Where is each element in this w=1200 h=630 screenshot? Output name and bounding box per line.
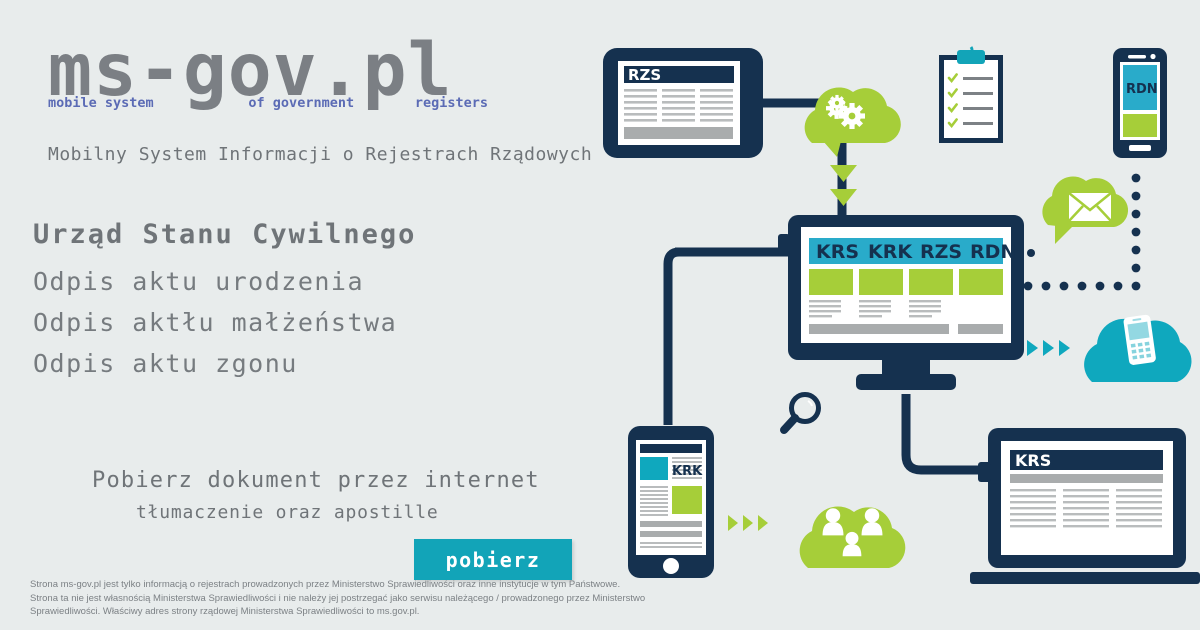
gears-cloud-icon bbox=[805, 87, 901, 206]
svg-text:KRK: KRK bbox=[672, 464, 703, 479]
svg-text:RZS: RZS bbox=[920, 241, 962, 263]
tablet-krk: KRK bbox=[628, 426, 714, 578]
logo-sub-mid: of government bbox=[248, 95, 354, 111]
monitor-dashboard: KRS KRK RZS RDN bbox=[778, 215, 1035, 390]
svg-text:KRK: KRK bbox=[868, 241, 913, 263]
list-item: Odpis aktu zgonu bbox=[33, 343, 397, 384]
illustration-panel: RZS bbox=[580, 0, 1200, 630]
tagline: Mobilny System Informacji o Rejestrach R… bbox=[48, 144, 592, 165]
laptop-krs: KRS bbox=[970, 428, 1200, 584]
envelope-cloud-icon bbox=[1042, 176, 1128, 244]
logo-sub-right: registers bbox=[415, 95, 488, 111]
document-list: Odpis aktu urodzenia Odpis aktłu małżeńs… bbox=[33, 261, 397, 384]
svg-text:RDN: RDN bbox=[970, 241, 1016, 263]
svg-text:KRS: KRS bbox=[816, 241, 859, 263]
svg-text:KRS: KRS bbox=[1015, 451, 1051, 470]
list-item: Odpis aktu urodzenia bbox=[33, 261, 397, 302]
phone-rdn: RDN bbox=[1113, 48, 1167, 158]
poster-root: ms-gov.pl mobile system of government re… bbox=[0, 0, 1200, 630]
magnifier-icon bbox=[784, 395, 819, 431]
clipboard-checklist-icon bbox=[939, 47, 1003, 143]
svg-text:RDN: RDN bbox=[1126, 82, 1158, 97]
cta-subline: tłumaczenie oraz apostille bbox=[136, 502, 439, 523]
logo-subtitle: mobile system of government registers bbox=[48, 95, 488, 111]
arrows-bottom bbox=[728, 515, 768, 531]
tablet-rzs: RZS bbox=[603, 48, 763, 158]
download-button[interactable]: pobierz bbox=[414, 539, 572, 580]
people-cloud-icon bbox=[800, 506, 906, 568]
page-title: Urząd Stanu Cywilnego bbox=[33, 219, 416, 250]
mobile-cloud-icon bbox=[1084, 314, 1191, 382]
svg-text:RZS: RZS bbox=[628, 66, 661, 84]
left-text-panel: ms-gov.pl mobile system of government re… bbox=[0, 0, 600, 630]
cta-headline: Pobierz dokument przez internet bbox=[92, 468, 540, 493]
logo-sub-left: mobile system bbox=[48, 95, 154, 111]
arrows-right bbox=[1027, 340, 1070, 356]
list-item: Odpis aktłu małżeństwa bbox=[33, 302, 397, 343]
